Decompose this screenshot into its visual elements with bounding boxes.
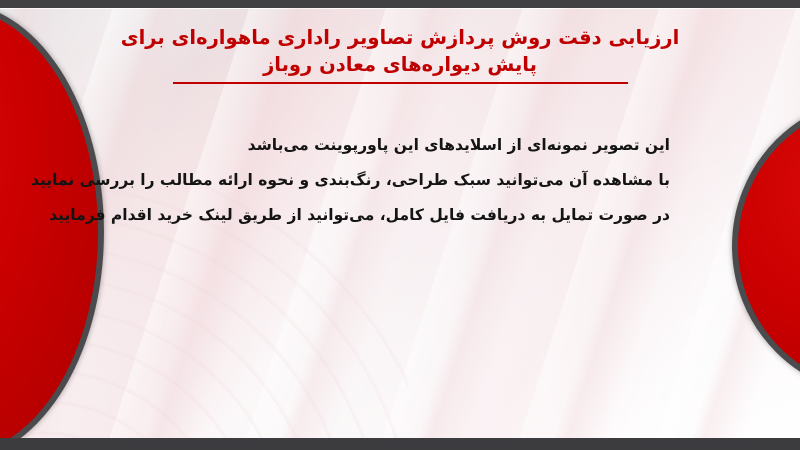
red-ellipse-right-decoration bbox=[732, 96, 800, 396]
title-underline-rule bbox=[173, 82, 628, 84]
body-line-2: با مشاهده آن می‌توانید سبک طراحی، رنگ‌بن… bbox=[150, 163, 670, 198]
slide-title: ارزیابی دقت روش پردازش تصاویر راداری ماه… bbox=[110, 24, 690, 84]
slide-body: این تصویر نمونه‌ای از اسلایدهای این پاور… bbox=[150, 128, 670, 233]
slide-title-line-2: پایش دیواره‌های معادن روباز bbox=[110, 51, 690, 78]
presentation-slide: ارزیابی دقت روش پردازش تصاویر راداری ماه… bbox=[0, 0, 800, 450]
body-line-1: این تصویر نمونه‌ای از اسلایدهای این پاور… bbox=[150, 128, 670, 163]
body-line-3: در صورت تمایل به دریافت فایل کامل، می‌تو… bbox=[150, 198, 670, 233]
slide-title-line-1: ارزیابی دقت روش پردازش تصاویر راداری ماه… bbox=[110, 24, 690, 51]
slide-content-card: ارزیابی دقت روش پردازش تصاویر راداری ماه… bbox=[0, 8, 800, 438]
